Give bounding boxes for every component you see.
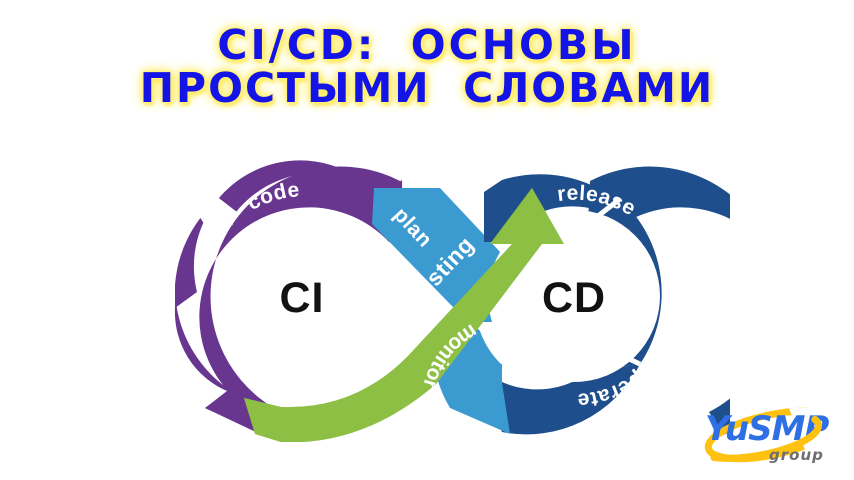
page-title: CI/CD: ОСНОВЫ ПРОСТЫМИ СЛОВАМИ (0, 24, 854, 111)
label-build: build (152, 267, 178, 326)
slide-canvas: CI/CD: ОСНОВЫ ПРОСТЫМИ СЛОВАМИ (0, 0, 854, 480)
devops-infinity-diagram: code build release deploy operate monito… (150, 146, 730, 442)
yusmp-group-logo[interactable]: YuSMP group (697, 404, 847, 472)
core-label-cd: CD (542, 274, 606, 322)
title-line-2: ПРОСТЫМИ СЛОВАМИ (0, 67, 854, 110)
core-label-ci: CI (280, 274, 325, 322)
title-line-1: CI/CD: ОСНОВЫ (0, 24, 854, 67)
logo-brand-text: YuSMP (705, 409, 829, 449)
logo-sub-text: group (769, 446, 824, 464)
